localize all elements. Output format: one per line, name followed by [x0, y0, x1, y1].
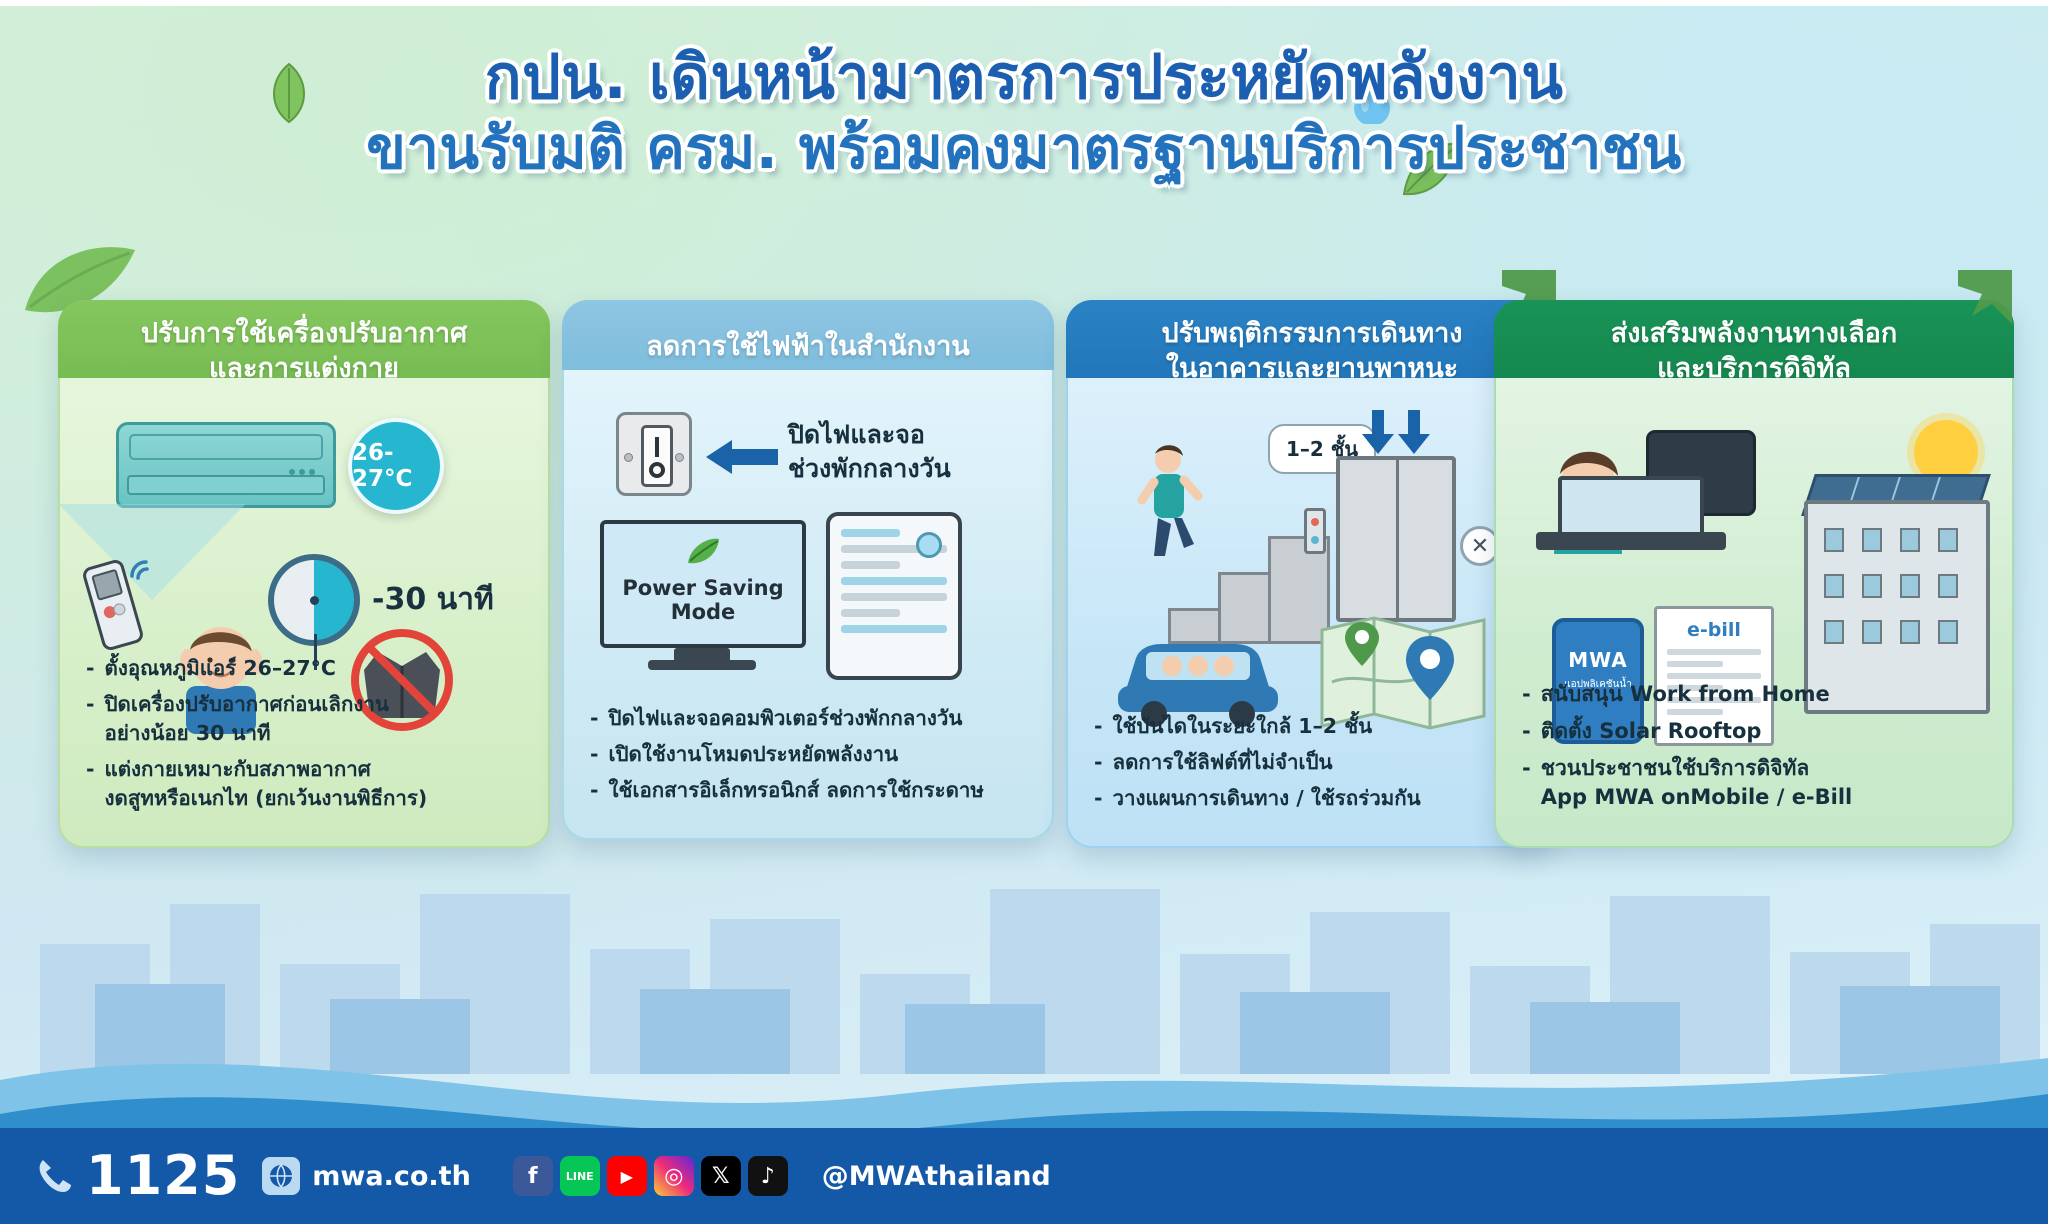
tablet-icon — [826, 512, 962, 680]
infographic-canvas: กปน. เดินหน้ามาตรการประหยัดพลังงาน ขานรั… — [0, 0, 2048, 1224]
bullet-text: ปิดเครื่องปรับอากาศก่อนเลิกงาน — [105, 692, 389, 716]
leaf-icon — [685, 536, 721, 566]
power-saving-label: Power Saving Mode — [604, 576, 802, 624]
website-url: mwa.co.th — [312, 1161, 471, 1192]
timer-label: -30 นาที — [372, 576, 494, 623]
card-1-header-line-1: ปรับการใช้เครื่องปรับอากาศ — [76, 316, 532, 351]
bullet-item: - ปิดไฟและจอคอมพิวเตอร์ช่วงพักกลางวัน — [590, 704, 1034, 733]
ac-vent — [129, 434, 323, 460]
bullet-text: ปิดไฟและจอคอมพิวเตอร์ช่วงพักกลางวัน — [609, 704, 1034, 733]
card-1-body: 26-27°C -30 นาที — [58, 378, 550, 848]
monitor-base — [648, 660, 756, 670]
line-icon[interactable]: LINE — [560, 1156, 600, 1196]
bullet-text: สนับสนุน Work from Home — [1541, 680, 1994, 710]
x-twitter-icon[interactable]: 𝕏 — [701, 1156, 741, 1196]
bullet-text: ตั้งอุณหภูมิแอร์ 26–27°C — [105, 656, 336, 680]
youtube-icon[interactable]: ▶ — [607, 1156, 647, 1196]
instagram-icon[interactable]: ◎ — [654, 1156, 694, 1196]
ac-indicator-dots — [289, 469, 315, 475]
title-block: กปน. เดินหน้ามาตรการประหยัดพลังงาน ขานรั… — [0, 44, 2048, 181]
bullet-item: - ปิดเครื่องปรับอากาศก่อนเลิกงาน อย่างน้… — [86, 690, 530, 748]
elevator-icon — [1336, 456, 1456, 622]
bullet-text: แต่งกายเหมาะกับสภาพอากาศ — [105, 757, 371, 781]
bullet-text: วางแผนการเดินทาง / ใช้รถร่วมกัน — [1113, 784, 1538, 813]
title-line-1: กปน. เดินหน้ามาตรการประหยัดพลังงาน — [0, 44, 2048, 112]
card-3-body: 1–2 ชั้น ✕ — [1066, 378, 1558, 848]
social-icons: f LINE ▶ ◎ 𝕏 ♪ — [513, 1156, 788, 1196]
bullet-subtext: งดสูทหรือเนกไท (ยกเว้นงานพิธีการ) — [105, 784, 530, 813]
bullet-item: - เปิดใช้งานโหมดประหยัดพลังงาน — [590, 740, 1034, 769]
website-block[interactable]: mwa.co.th — [262, 1157, 471, 1195]
hotline-block[interactable]: 1125 — [34, 1149, 240, 1203]
green-arrow-icon-2 — [1952, 264, 2018, 330]
card-2-illustration: ปิดไฟและจอ ช่วงพักกลางวัน Power Saving M… — [564, 396, 1052, 696]
temperature-badge: 26-27°C — [348, 418, 444, 514]
globe-icon — [262, 1157, 300, 1195]
bullet-text: ใช้เอกสารอิเล็กทรอนิกส์ ลดการใช้กระดาษ — [609, 776, 1034, 805]
card-4-bullets: - สนับสนุน Work from Home - ติดตั้ง Sola… — [1522, 680, 1994, 820]
facebook-icon[interactable]: f — [513, 1156, 553, 1196]
measure-cards: ปรับการใช้เครื่องปรับอากาศ และการแต่งกาย… — [0, 300, 2048, 920]
e-bill-label: e-bill — [1667, 619, 1761, 641]
card-air-conditioning[interactable]: ปรับการใช้เครื่องปรับอากาศ และการแต่งกาย… — [58, 300, 550, 848]
card-2-bullets: - ปิดไฟและจอคอมพิวเตอร์ช่วงพักกลางวัน - … — [590, 704, 1034, 812]
hotline-number: 1125 — [86, 1149, 240, 1203]
bullet-item: - ใช้บันไดในระยะใกล้ 1–2 ชั้น — [1094, 712, 1538, 741]
card-2-body: ปิดไฟและจอ ช่วงพักกลางวัน Power Saving M… — [562, 370, 1054, 840]
bullet-item: - ลดการใช้ลิฟต์ที่ไม่จำเป็น — [1094, 748, 1538, 777]
bullet-item: - ตั้งอุณหภูมิแอร์ 26–27°C — [86, 654, 530, 683]
card-3-bullets: - ใช้บันไดในระยะใกล้ 1–2 ชั้น - ลดการใช้… — [1094, 712, 1538, 820]
social-handle: @MWAthailand — [822, 1161, 1051, 1192]
down-arrow-icon — [1354, 410, 1438, 454]
switch-label-line-2: ช่วงพักกลางวัน — [788, 452, 951, 486]
elevator-call-panel — [1304, 508, 1326, 554]
tiktok-icon[interactable]: ♪ — [748, 1156, 788, 1196]
signal-waves-icon — [128, 550, 164, 580]
card-4-header-line-1: ส่งเสริมพลังงานทางเลือก — [1512, 316, 1996, 351]
air-conditioner-icon — [116, 422, 336, 508]
arrow-left-icon — [706, 438, 778, 476]
bullet-text: ติดตั้ง Solar Rooftop — [1541, 717, 1994, 747]
phone-brand-label: MWA — [1556, 648, 1640, 672]
bullet-item: - สนับสนุน Work from Home — [1522, 680, 1994, 710]
walking-person-icon — [1126, 444, 1206, 564]
power-saving-line-2: Mode — [604, 600, 802, 624]
card-office-electricity[interactable]: ลดการใช้ไฟฟ้าในสำนักงาน ปิดไฟและจอ ช่วงพ… — [562, 300, 1054, 840]
card-1-bullets: - ตั้งอุณหภูมิแอร์ 26–27°C - ปิดเครื่องป… — [86, 654, 530, 821]
power-saving-line-1: Power Saving — [604, 576, 802, 600]
card-2-header-line-1: ลดการใช้ไฟฟ้าในสำนักงาน — [580, 329, 1036, 364]
card-3-header-line-1: ปรับพฤติกรรมการเดินทาง — [1084, 316, 1540, 351]
card-3-illustration: 1–2 ชั้น ✕ — [1068, 404, 1556, 704]
light-switch-icon — [616, 412, 692, 496]
card-4-illustration: MWA แอปพลิเคชันน้ำ e-bill — [1496, 404, 2012, 704]
top-white-border — [0, 0, 2048, 6]
bullet-subtext: App MWA onMobile / e-Bill — [1541, 783, 1994, 813]
footer-bar: 1125 mwa.co.th f LINE ▶ ◎ 𝕏 ♪ @MWAthaila… — [0, 1128, 2048, 1224]
laptop-icon — [1536, 532, 1726, 550]
bullet-text: ชวนประชาชนใช้บริการดิจิทัล — [1541, 756, 1810, 780]
switch-label: ปิดไฟและจอ ช่วงพักกลางวัน — [788, 418, 951, 486]
bullet-item: - ชวนประชาชนใช้บริการดิจิทัล App MWA onM… — [1522, 754, 1994, 814]
bullet-item: - แต่งกายเหมาะกับสภาพอากาศ งดสูทหรือเนกไ… — [86, 755, 530, 813]
bullet-text: เปิดใช้งานโหมดประหยัดพลังงาน — [609, 740, 1034, 769]
switch-label-line-1: ปิดไฟและจอ — [788, 418, 951, 452]
monitor-icon: Power Saving Mode — [600, 520, 806, 648]
card-4-body: MWA แอปพลิเคชันน้ำ e-bill - สนับสนุน Wor… — [1494, 378, 2014, 848]
bullet-item: - ใช้เอกสารอิเล็กทรอนิกส์ ลดการใช้กระดาษ — [590, 776, 1034, 805]
phone-icon — [34, 1155, 76, 1197]
laptop-screen — [1558, 476, 1704, 538]
card-travel-behaviour[interactable]: ปรับพฤติกรรมการเดินทาง ในอาคารและยานพาหน… — [1066, 300, 1558, 848]
bullet-text: ลดการใช้ลิฟต์ที่ไม่จำเป็น — [1113, 748, 1538, 777]
bullet-subtext: อย่างน้อย 30 นาที — [105, 719, 530, 748]
bullet-text: ใช้บันไดในระยะใกล้ 1–2 ชั้น — [1113, 712, 1538, 741]
bullet-item: - ติดตั้ง Solar Rooftop — [1522, 717, 1994, 747]
title-line-2: ขานรับมติ ครม. พร้อมคงมาตรฐานบริการประชา… — [0, 116, 2048, 181]
card-alternative-energy[interactable]: ส่งเสริมพลังงานทางเลือก และบริการดิจิทัล — [1494, 300, 2014, 848]
bullet-item: - วางแผนการเดินทาง / ใช้รถร่วมกัน — [1094, 784, 1538, 813]
